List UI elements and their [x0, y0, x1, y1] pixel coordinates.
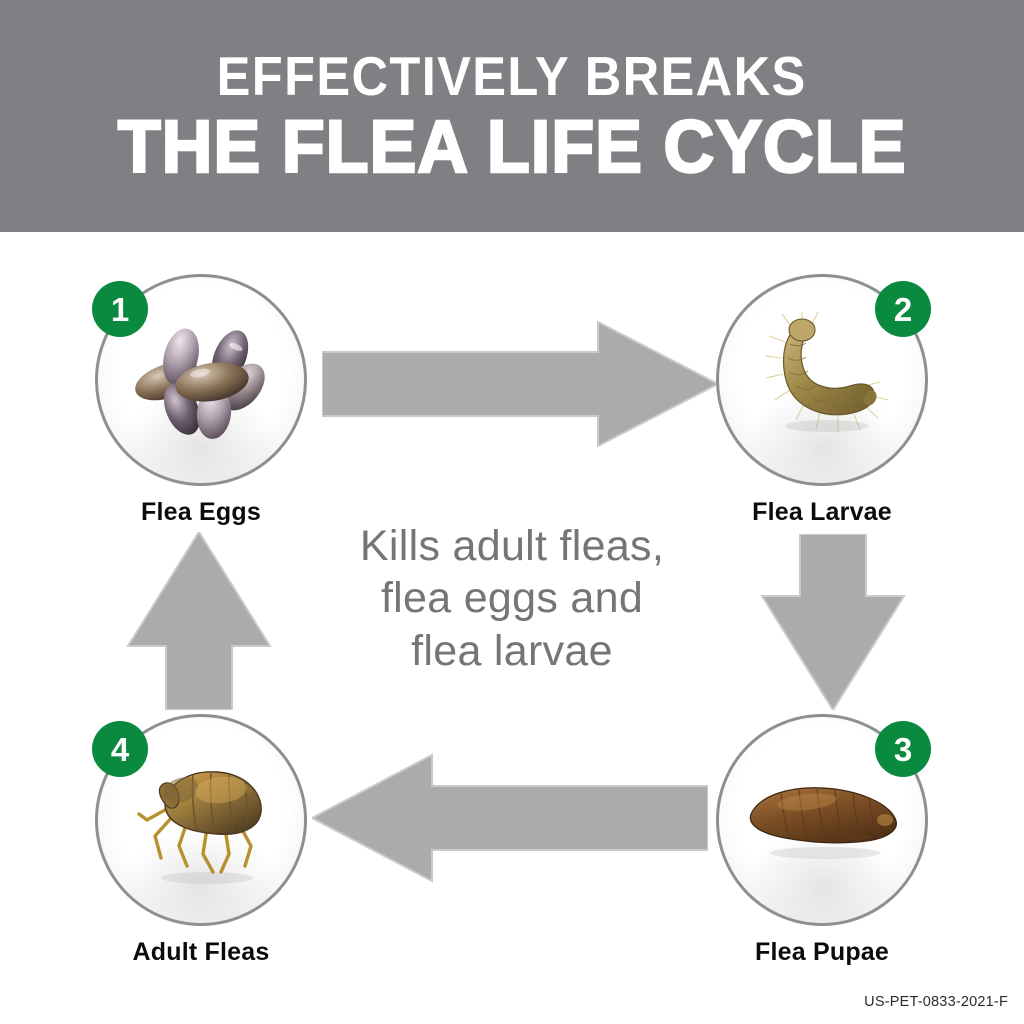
center-message: Kills adult fleas, flea eggs and flea la… — [262, 520, 762, 677]
arrow-pupae-to-adult-icon — [312, 752, 708, 884]
adult-fleas-label: Adult Fleas — [95, 938, 307, 967]
flea-life-cycle-diagram: 1 — [0, 232, 1024, 1024]
cycle-node-adult-fleas[interactable]: 4 — [95, 714, 307, 967]
header-band: EFFECTIVELY BREAKS THE FLEA LIFE CYCLE — [0, 0, 1024, 232]
cycle-node-flea-eggs[interactable]: 1 — [95, 274, 307, 527]
step-badge-1: 1 — [92, 281, 148, 337]
center-message-line-1: Kills adult fleas, — [262, 520, 762, 572]
cycle-node-flea-pupae[interactable]: 3 — [716, 714, 928, 967]
cycle-node-flea-larvae[interactable]: 2 — [716, 274, 928, 527]
flea-pupae-circle: 3 — [716, 714, 928, 926]
headline-line-2: THE FLEA LIFE CYCLE — [118, 110, 907, 184]
step-badge-2: 2 — [875, 281, 931, 337]
arrow-adult-to-eggs-icon — [126, 532, 272, 710]
center-message-line-2: flea eggs and — [262, 572, 762, 624]
adult-fleas-circle: 4 — [95, 714, 307, 926]
center-message-line-3: flea larvae — [262, 625, 762, 677]
step-badge-4: 4 — [92, 721, 148, 777]
document-code: US-PET-0833-2021-F — [864, 994, 1008, 1010]
arrow-larvae-to-pupae-icon — [760, 534, 906, 710]
flea-pupae-label: Flea Pupae — [716, 938, 928, 967]
step-badge-3: 3 — [875, 721, 931, 777]
flea-eggs-circle: 1 — [95, 274, 307, 486]
arrow-eggs-to-larvae-icon — [322, 320, 718, 448]
headline-line-1: EFFECTIVELY BREAKS — [217, 49, 807, 104]
flea-larvae-circle: 2 — [716, 274, 928, 486]
